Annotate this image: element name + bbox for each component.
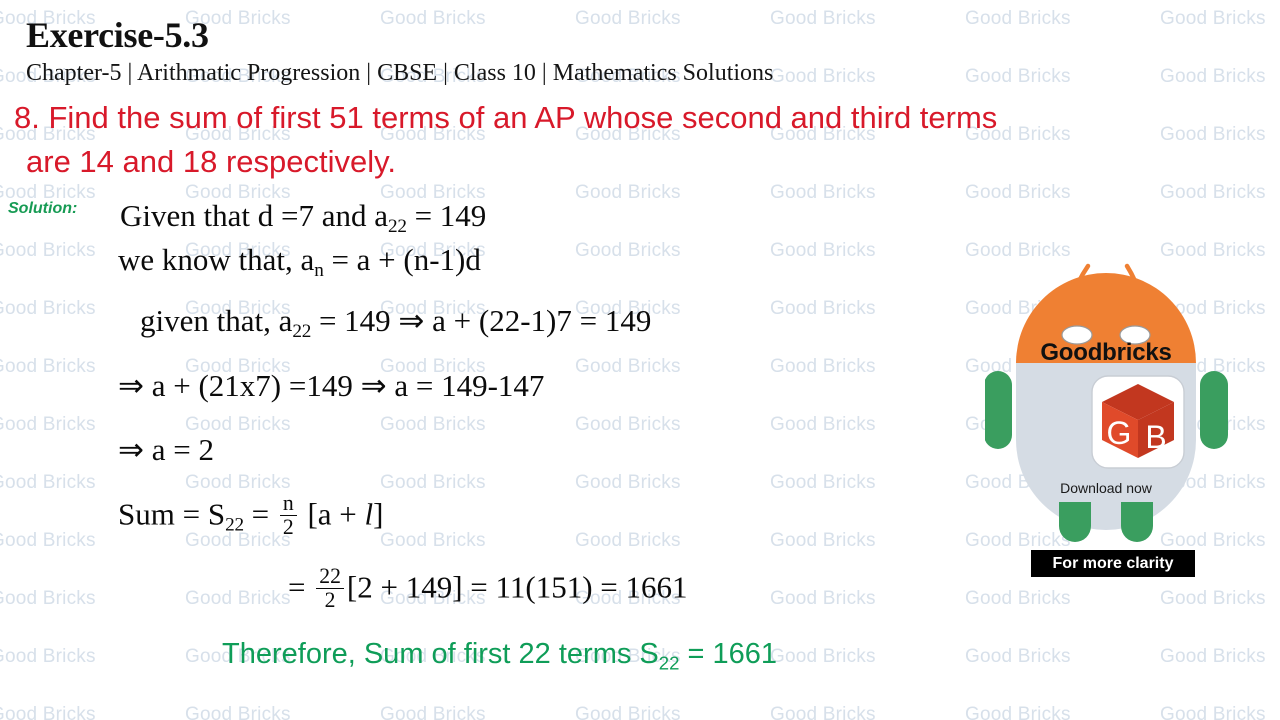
- subscript: 22: [388, 216, 407, 237]
- conclusion-suffix: = 1661: [679, 638, 777, 670]
- fraction-n-over-2: n2: [280, 492, 297, 538]
- math-text: =: [288, 569, 313, 604]
- math-line-sum-formula: Sum = S22 = n2 [a + l]: [118, 492, 384, 538]
- math-text: ]: [373, 496, 383, 531]
- arm-left: [985, 371, 1012, 449]
- clarity-banner-label: For more clarity: [1053, 555, 1174, 573]
- page-title: Exercise-5.3: [26, 14, 209, 56]
- question-line-1: 8. Find the sum of first 51 terms of an …: [14, 100, 997, 135]
- goodbricks-wordmark: Goodbricks: [985, 339, 1227, 367]
- math-text: [a +: [300, 496, 365, 531]
- subscript: 22: [225, 515, 244, 536]
- fraction-numerator: 22: [316, 565, 344, 588]
- math-line-substitute: given that, a22 = 149 ⇒ a + (22-1)7 = 14…: [140, 303, 651, 343]
- math-text: [2 + 149] = 11(151) = 1661: [347, 569, 688, 604]
- question-line-2: are 14 and 18 respectively.: [14, 140, 1270, 184]
- math-text: =: [244, 496, 277, 531]
- cube-letter-g: G: [1107, 415, 1132, 451]
- math-line-given: Given that d =7 and a22 = 149: [120, 198, 486, 238]
- math-text: = a + (n-1)d: [324, 242, 481, 277]
- math-text: Sum = S: [118, 496, 225, 531]
- question-text: 8. Find the sum of first 51 terms of an …: [14, 96, 1270, 184]
- arm-right: [1200, 371, 1228, 449]
- subscript: n: [314, 260, 323, 281]
- math-text: given that, a: [140, 303, 292, 338]
- for-more-clarity-banner: For more clarity: [1031, 550, 1195, 577]
- math-line-expand: ⇒ a + (21x7) =149 ⇒ a = 149-147: [118, 368, 544, 404]
- math-line-calculation: = 222[2 + 149] = 11(151) = 1661: [288, 565, 688, 611]
- math-text: = 149: [407, 198, 486, 233]
- leg-left: [1059, 502, 1091, 542]
- math-line-result-a: ⇒ a = 2: [118, 432, 214, 468]
- goodbricks-mascot[interactable]: G B Goodbricks Download now For more cla…: [985, 258, 1260, 588]
- conclusion-prefix: Therefore, Sum of first 22 terms S: [222, 638, 659, 670]
- subscript: 22: [292, 321, 311, 342]
- download-now-label[interactable]: Download now: [985, 480, 1227, 496]
- conclusion-text: Therefore, Sum of first 22 terms S22 = 1…: [222, 638, 777, 674]
- gb-cube-logo-icon: G B: [1092, 376, 1184, 468]
- leg-right: [1121, 502, 1153, 542]
- fraction-denominator: 2: [280, 515, 297, 539]
- slide-canvas: Good BricksGood BricksGood BricksGood Br…: [0, 0, 1280, 720]
- fraction-numerator: n: [280, 492, 297, 515]
- fraction-22-over-2: 222: [316, 565, 344, 611]
- solution-label: Solution:: [8, 200, 77, 218]
- math-text: we know that, a: [118, 242, 314, 277]
- subscript: 22: [659, 652, 680, 673]
- breadcrumb: Chapter-5 | Arithmatic Progression | CBS…: [26, 60, 773, 87]
- fraction-denominator: 2: [316, 588, 344, 612]
- math-text: = 149 ⇒ a + (22-1)7 = 149: [311, 303, 651, 338]
- math-line-formula: we know that, an = a + (n-1)d: [118, 242, 481, 282]
- cube-letter-b: B: [1145, 419, 1166, 455]
- math-text: Given that d =7 and a: [120, 198, 388, 233]
- math-variable-l: l: [365, 496, 374, 531]
